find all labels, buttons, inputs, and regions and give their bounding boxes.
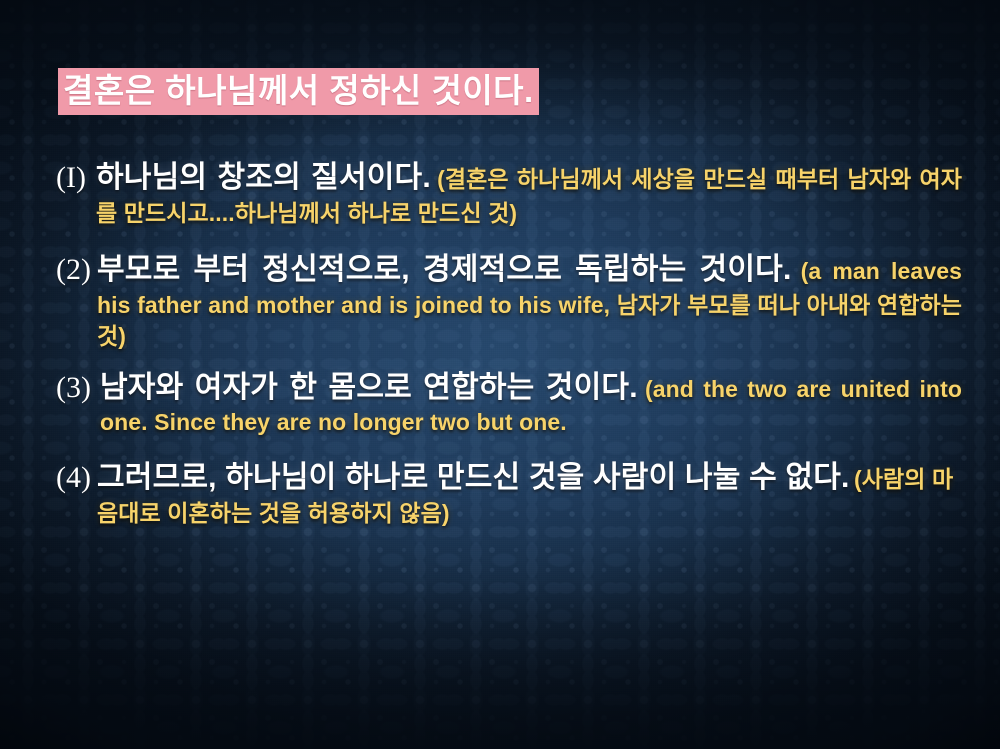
list-item-body: 남자와 여자가 한 몸으로 연합하는 것이다. (and the two are…	[100, 368, 962, 438]
list-item: (2) 부모로 부터 정신적으로, 경제적으로 독립하는 것이다. (a man…	[56, 250, 962, 351]
list-item-body: 하나님의 창조의 질서이다. (결혼은 하나님께서 세상을 만드실 때부터 남자…	[96, 158, 962, 228]
list-item-main-text: 부모로 부터 정신적으로, 경제적으로 독립하는 것이다.	[97, 253, 792, 286]
list-item-number: (3)	[56, 368, 100, 408]
list-item-number: (I)	[56, 158, 96, 198]
slide-content: 결혼은 하나님께서 정하신 것이다. (I) 하나님의 창조의 질서이다. (결…	[0, 0, 1000, 749]
slide-title-text: 결혼은 하나님께서 정하신 것이다.	[58, 68, 539, 115]
presentation-slide: 결혼은 하나님께서 정하신 것이다. (I) 하나님의 창조의 질서이다. (결…	[0, 0, 1000, 749]
list-item-body: 그러므로, 하나님이 하나로 만드신 것을 사람이 나눌 수 없다. (사람의 …	[97, 458, 962, 528]
bullet-list: (I) 하나님의 창조의 질서이다. (결혼은 하나님께서 세상을 만드실 때부…	[56, 158, 962, 528]
list-item-number: (4)	[56, 458, 97, 498]
slide-title: 결혼은 하나님께서 정하신 것이다.	[58, 68, 539, 115]
list-item-main-text: 남자와 여자가 한 몸으로 연합하는 것이다.	[100, 371, 638, 404]
list-item-number: (2)	[56, 250, 97, 290]
list-item: (4) 그러므로, 하나님이 하나로 만드신 것을 사람이 나눌 수 없다. (…	[56, 458, 962, 528]
list-item: (3) 남자와 여자가 한 몸으로 연합하는 것이다. (and the two…	[56, 368, 962, 438]
list-item-body: 부모로 부터 정신적으로, 경제적으로 독립하는 것이다. (a man lea…	[97, 250, 962, 351]
list-item-main-text: 하나님의 창조의 질서이다.	[96, 161, 431, 194]
list-item-main-text: 그러므로, 하나님이 하나로 만드신 것을 사람이 나눌 수 없다.	[97, 461, 850, 494]
list-item: (I) 하나님의 창조의 질서이다. (결혼은 하나님께서 세상을 만드실 때부…	[56, 158, 962, 228]
